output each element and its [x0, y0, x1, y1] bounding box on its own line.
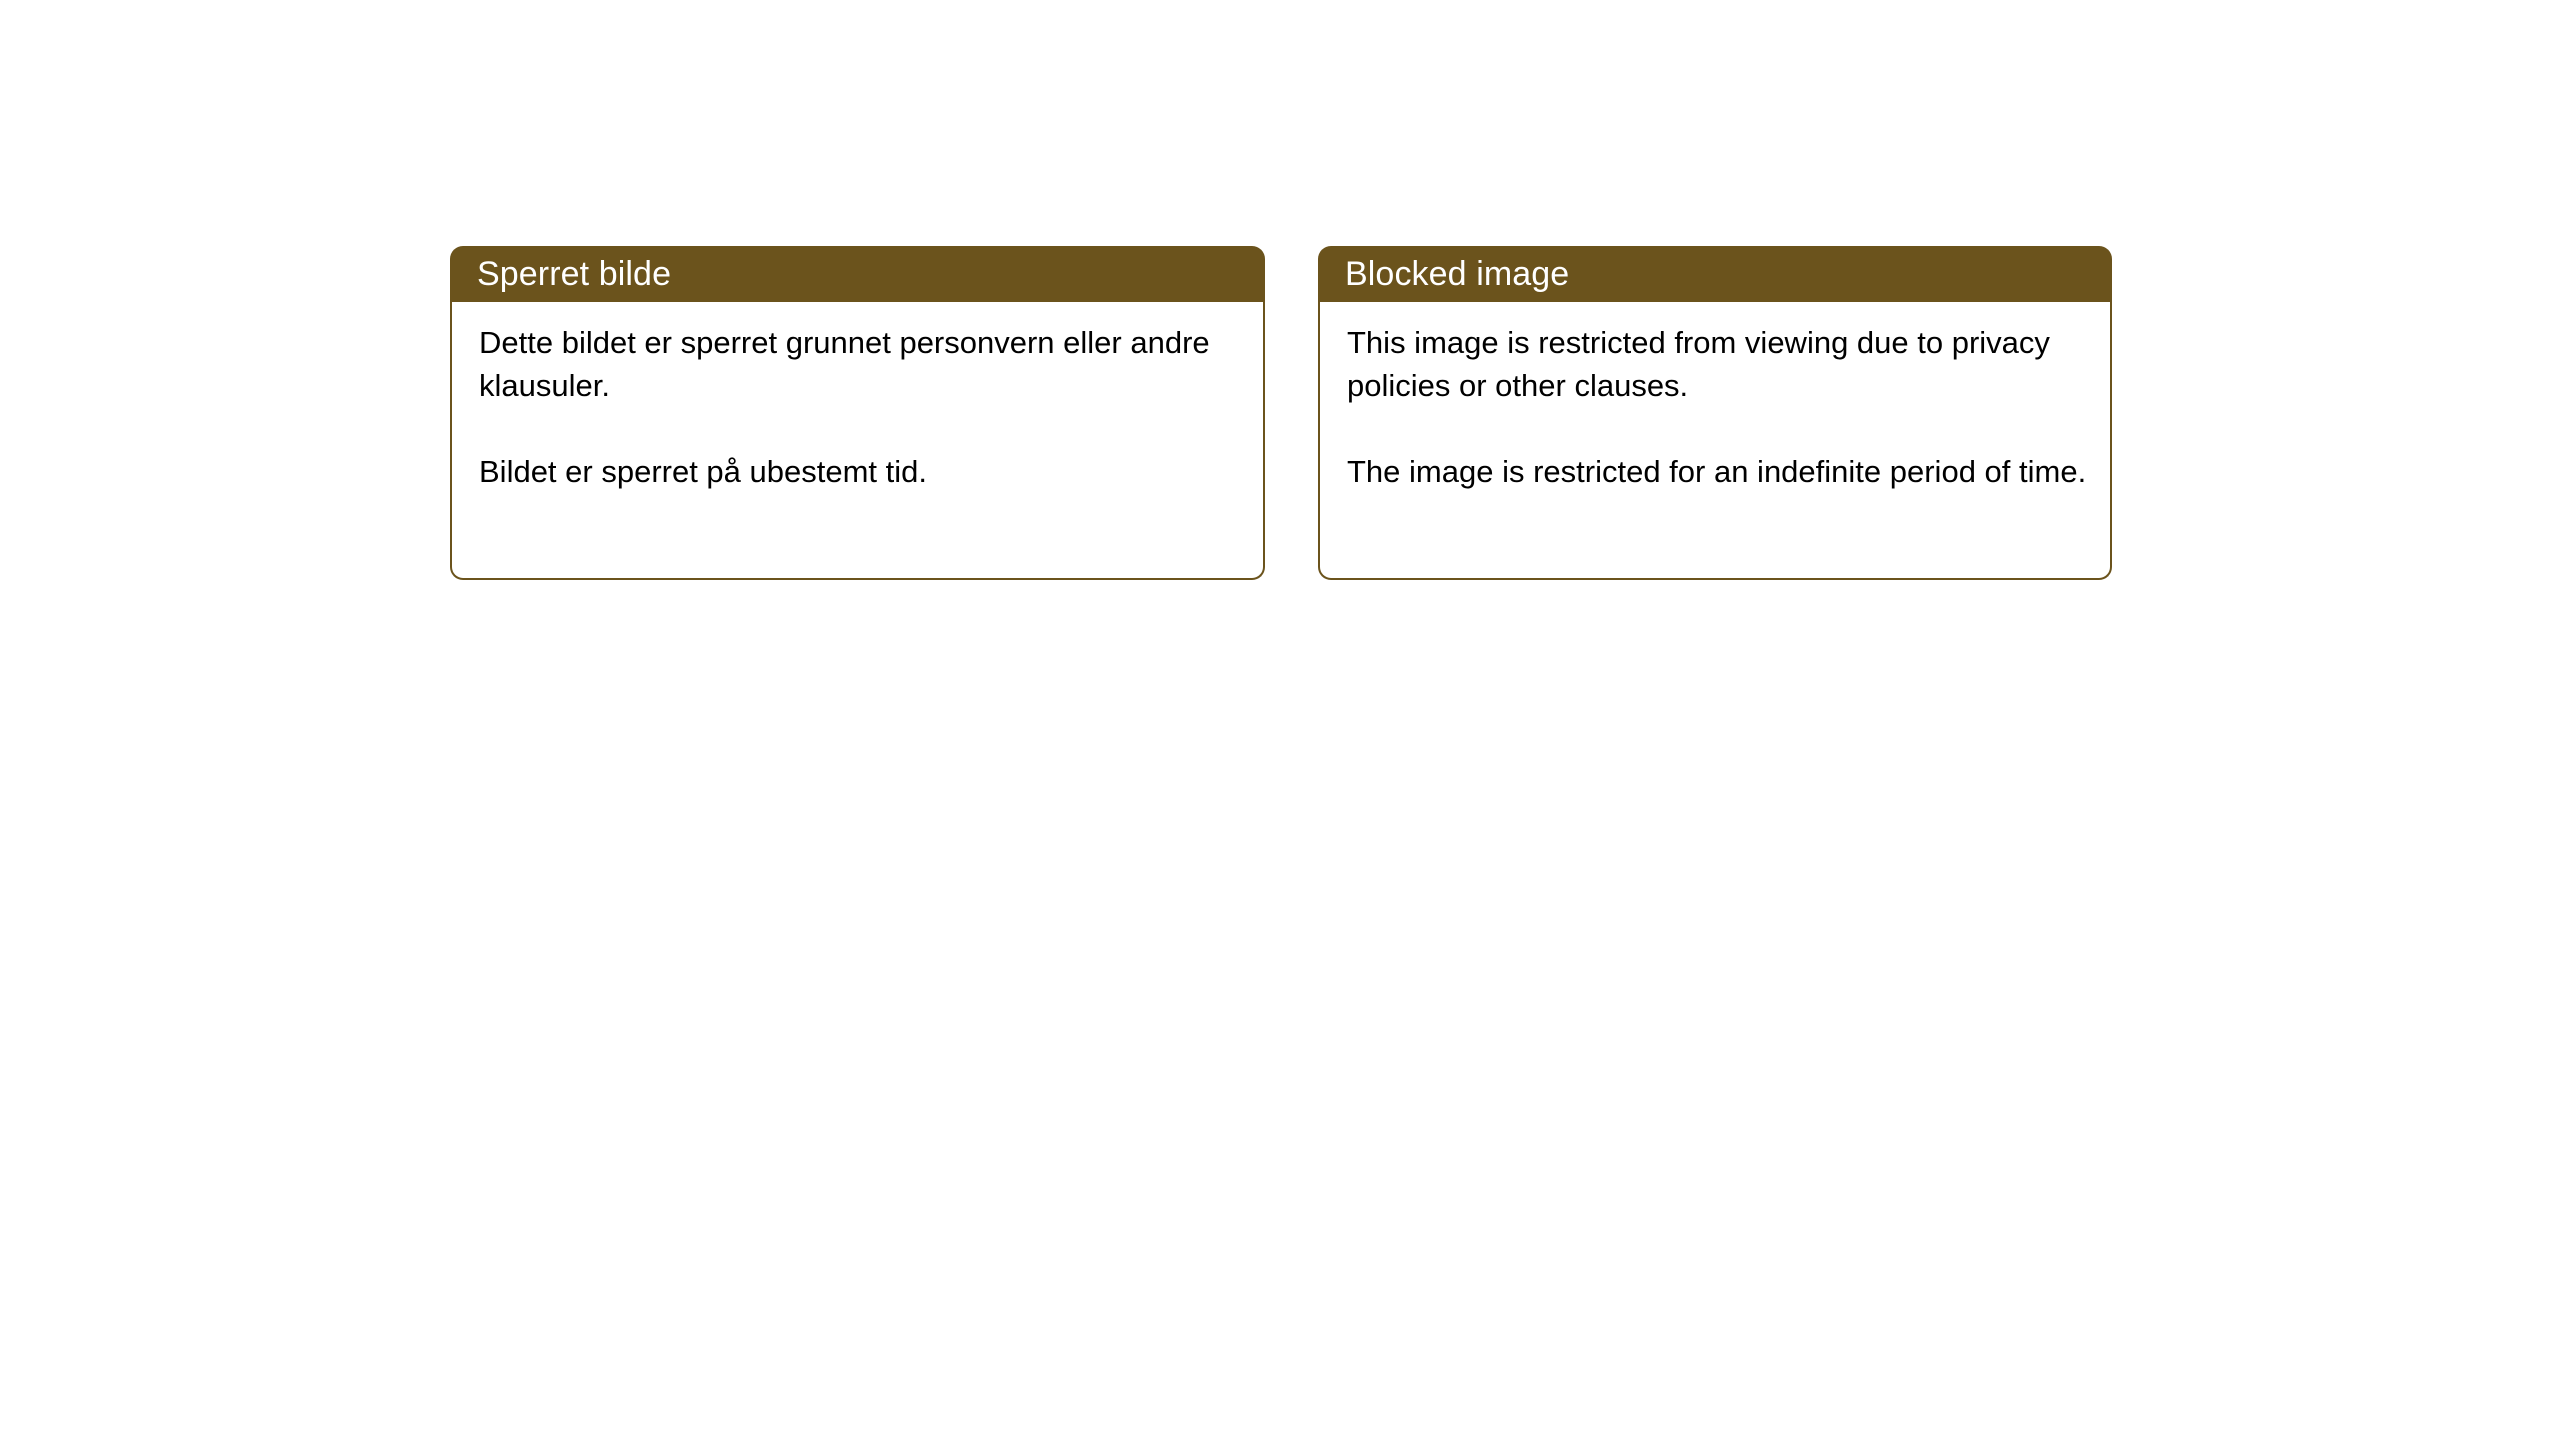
- panel-paragraph: Bildet er sperret på ubestemt tid.: [479, 450, 1241, 493]
- blocked-image-panel-norwegian: Sperret bilde Dette bildet er sperret gr…: [450, 246, 1265, 580]
- panel-body-english: This image is restricted from viewing du…: [1318, 302, 2112, 580]
- panel-header-norwegian: Sperret bilde: [450, 246, 1265, 302]
- panel-body-norwegian: Dette bildet er sperret grunnet personve…: [450, 302, 1265, 580]
- blocked-image-panel-english: Blocked image This image is restricted f…: [1318, 246, 2112, 580]
- panel-title-norwegian: Sperret bilde: [477, 257, 671, 291]
- panel-title-english: Blocked image: [1345, 257, 1569, 291]
- panel-header-english: Blocked image: [1318, 246, 2112, 302]
- panel-paragraph: Dette bildet er sperret grunnet personve…: [479, 321, 1241, 407]
- panel-paragraph: This image is restricted from viewing du…: [1347, 321, 2088, 407]
- blocked-image-notice-group: Sperret bilde Dette bildet er sperret gr…: [450, 246, 2112, 580]
- panel-paragraph: The image is restricted for an indefinit…: [1347, 450, 2088, 493]
